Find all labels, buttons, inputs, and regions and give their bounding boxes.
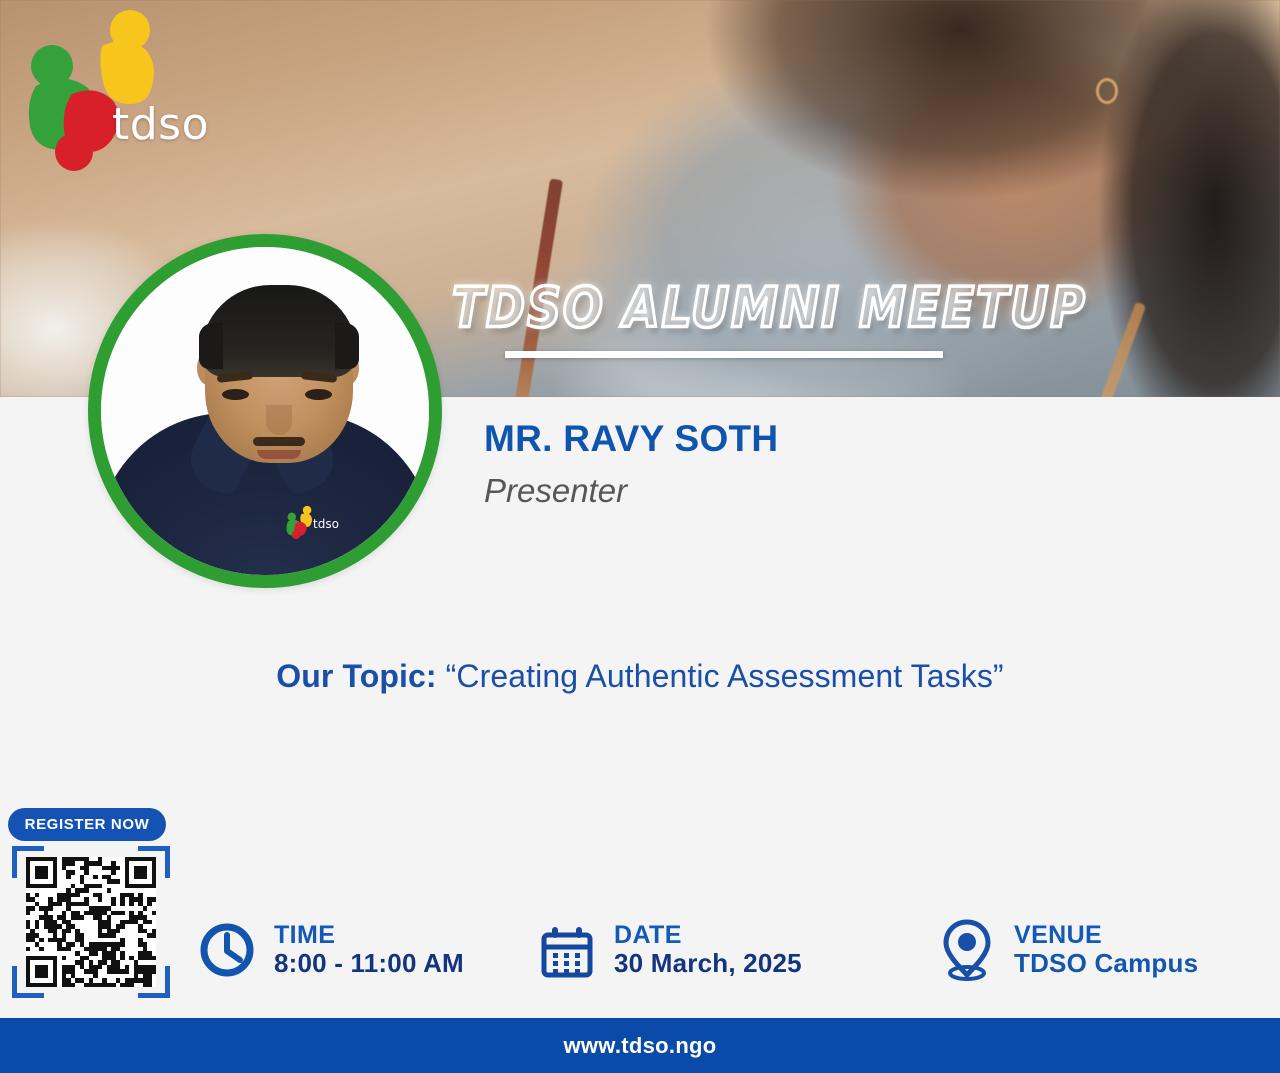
portrait-photo: tdso <box>101 247 429 575</box>
detail-time-value: 8:00 - 11:00 AM <box>274 949 464 978</box>
shirt-logo-wordmark: tdso <box>313 517 339 531</box>
topic-label: Our Topic: <box>276 658 436 694</box>
portrait-moustache <box>253 437 305 446</box>
website-url[interactable]: www.tdso.ngo <box>563 1033 716 1059</box>
qr-module <box>152 983 156 987</box>
title-underline-bar <box>505 351 943 358</box>
tdso-logo: tdso <box>14 8 204 173</box>
footer-bar: www.tdso.ngo <box>0 1018 1280 1073</box>
event-details-row: TIME 8:00 - 11:00 AM D <box>196 900 1256 1000</box>
detail-date-label: DATE <box>614 921 802 949</box>
detail-time: TIME 8:00 - 11:00 AM <box>196 915 536 985</box>
topic-line: Our Topic: “Creating Authentic Assessmen… <box>0 658 1280 695</box>
clock-icon <box>196 915 258 985</box>
detail-date: DATE 30 March, 2025 <box>536 915 936 985</box>
portrait-hair <box>201 285 357 377</box>
calendar-icon <box>536 915 598 985</box>
portrait-mouth <box>257 450 301 459</box>
qr-code-image[interactable] <box>26 857 156 987</box>
portrait-nose <box>266 405 292 435</box>
map-pin-icon <box>936 915 998 985</box>
topic-value: “Creating Authentic Assessment Tasks” <box>437 658 1004 694</box>
event-poster: tdso TDSO ALUMNI MEETUP <box>0 0 1280 1073</box>
qr-code-block[interactable] <box>12 846 170 998</box>
portrait-eye-left <box>222 389 249 400</box>
detail-date-text: DATE 30 March, 2025 <box>614 921 802 978</box>
detail-venue-value: TDSO Campus <box>1014 949 1198 978</box>
presenter-portrait: tdso <box>88 234 442 588</box>
detail-venue-label: VENUE <box>1014 921 1198 949</box>
portrait-shirt-logo: tdso <box>285 505 343 539</box>
detail-time-label: TIME <box>274 921 464 949</box>
presenter-name: MR. RAVY SOTH <box>484 418 778 460</box>
register-now-button[interactable]: REGISTER NOW <box>8 808 166 841</box>
detail-venue: VENUE TDSO Campus <box>936 915 1256 985</box>
presenter-role: Presenter <box>484 472 627 510</box>
tdso-logo-wordmark: tdso <box>112 103 209 147</box>
detail-venue-text: VENUE TDSO Campus <box>1014 921 1198 978</box>
detail-date-value: 30 March, 2025 <box>614 949 802 978</box>
detail-time-text: TIME 8:00 - 11:00 AM <box>274 921 464 978</box>
poster-title: TDSO ALUMNI MEETUP <box>452 276 1087 341</box>
earring-graphic <box>1096 78 1118 104</box>
portrait-eye-right <box>305 389 332 400</box>
